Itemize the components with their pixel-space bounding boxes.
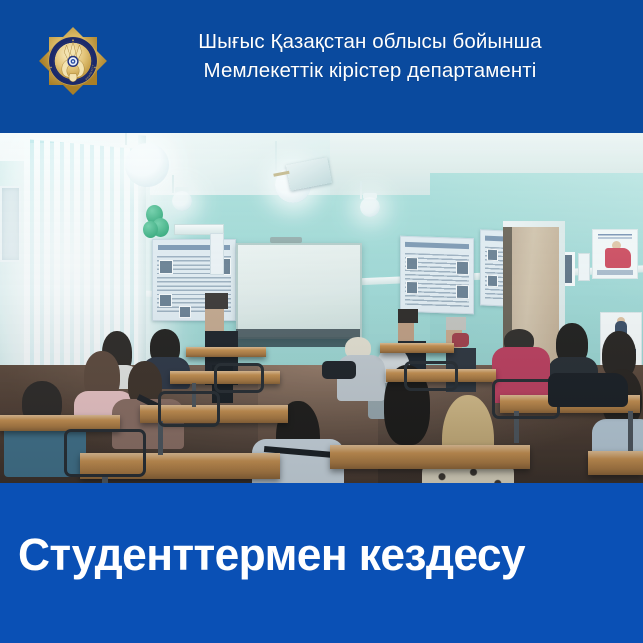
lamp-bulb	[360, 197, 380, 217]
person-hair	[398, 309, 418, 323]
lamp-cord	[275, 141, 277, 171]
poster-photo	[159, 260, 173, 274]
backpack	[322, 361, 356, 379]
classroom-desk	[380, 343, 454, 353]
poster-photo	[456, 261, 469, 275]
backpack	[548, 373, 628, 407]
person-hair	[446, 317, 466, 330]
lamp-bulb	[172, 191, 192, 211]
sign-footer-bar	[597, 270, 633, 275]
poster-photo	[456, 285, 469, 299]
organization-line-1: Шығыс Қазақстан облысы бойынша	[198, 30, 541, 53]
wall-paper-note	[578, 253, 590, 281]
classroom-desk	[330, 445, 530, 469]
person-scarf	[452, 333, 469, 347]
poster-photo	[179, 306, 191, 318]
lamp-cord	[360, 181, 362, 199]
classroom-photo	[0, 133, 643, 483]
person-hair	[205, 293, 228, 309]
classroom-desk	[588, 451, 643, 475]
wall-sign-poster	[592, 229, 638, 279]
lamp-cord	[172, 175, 174, 193]
organization-line-2: Мемлекеттік кірістер департаменті	[120, 56, 620, 85]
balloon	[143, 221, 158, 238]
wall-poster	[400, 236, 474, 315]
social-media-banner: МЕМЛЕКЕТТІК КІРІСТЕР КОМИТЕТІ	[0, 0, 643, 643]
sign-figure-body	[605, 248, 631, 268]
poster-title-bar	[405, 242, 468, 249]
sign-text-lines	[598, 234, 632, 241]
organization-name: Шығыс Қазақстан облысы бойынша Мемлекетт…	[120, 27, 620, 85]
chair-back	[64, 429, 146, 477]
projection-screen	[236, 243, 362, 339]
poster-photo	[487, 275, 498, 287]
poster-photo	[159, 294, 172, 307]
poster-photo	[406, 257, 418, 270]
event-title: Студенттермен кездесу	[18, 527, 624, 583]
chair-back	[404, 361, 458, 391]
poster-photo	[406, 281, 418, 294]
state-revenue-department-emblem-icon: МЕМЛЕКЕТТІК КІРІСТЕР КОМИТЕТІ	[33, 21, 113, 101]
person-head	[205, 309, 224, 331]
chair-back	[158, 391, 220, 427]
poster-photo	[487, 249, 498, 261]
classroom-desk	[186, 347, 266, 357]
lamp-bulb	[125, 143, 169, 187]
person-head	[398, 323, 414, 341]
lamp-cord	[125, 133, 127, 145]
student-person	[552, 323, 592, 379]
wall-poster-small	[210, 233, 224, 275]
classroom-scene	[0, 133, 643, 483]
banner-header: МЕМЛЕКЕТТІК КІРІСТЕР КОМИТЕТІ	[0, 0, 643, 133]
desk-leg	[628, 411, 633, 451]
framed-picture-left-wall	[0, 186, 21, 262]
chair-back	[214, 363, 264, 393]
